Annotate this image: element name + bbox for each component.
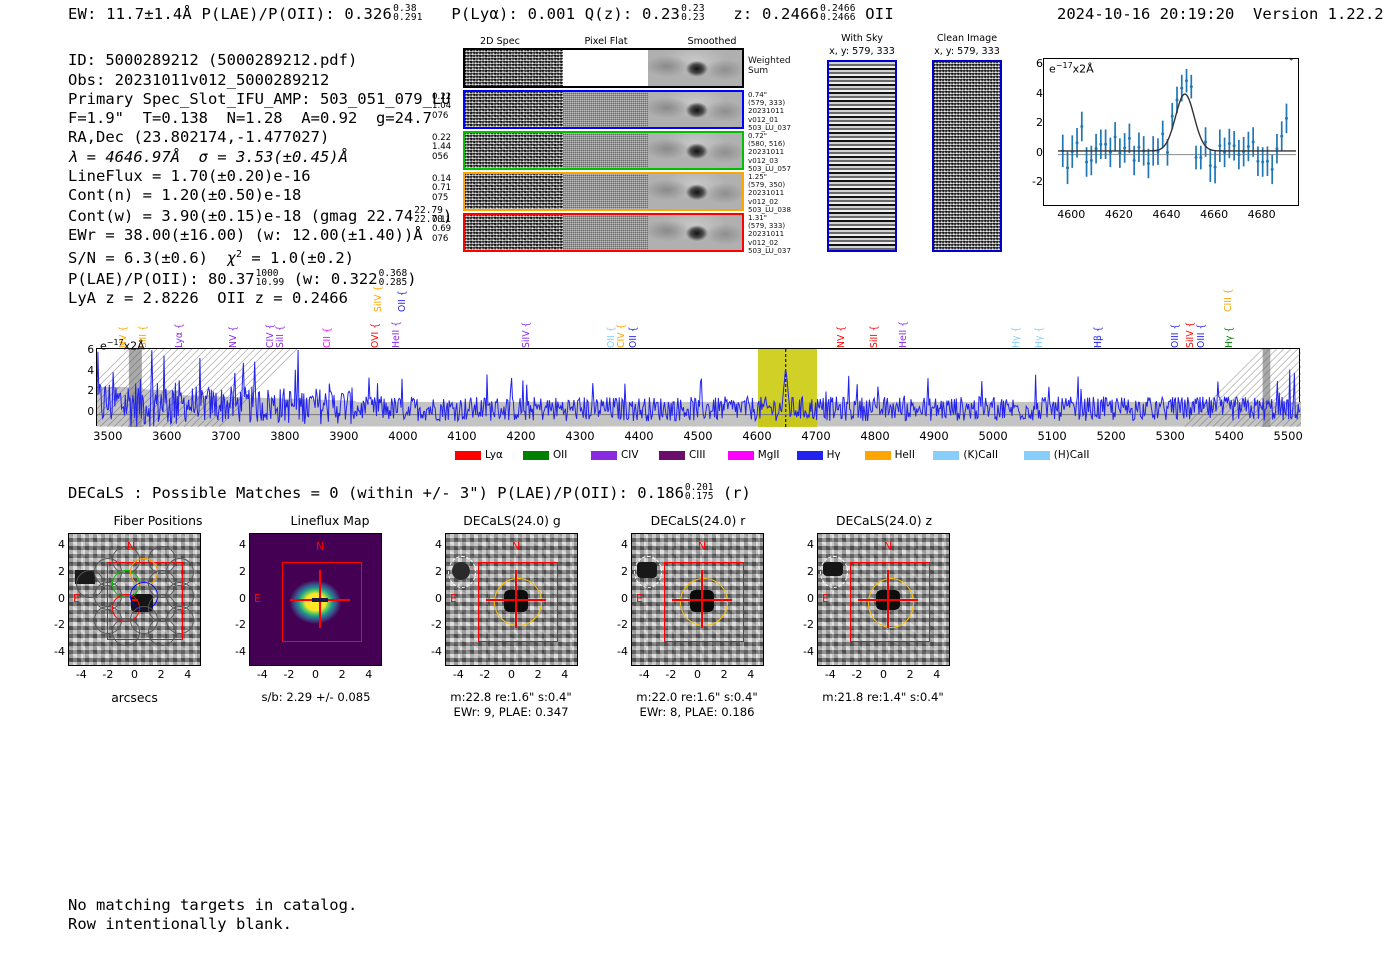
axis-tick-label: 0 — [498, 668, 526, 681]
summary-header: EW: 11.7±1.4Å P(LAE)/P(OII): 0.3260.380.… — [68, 4, 894, 23]
line-marker-siiv: SiIV { — [521, 310, 532, 348]
axis-tick-label: -2 — [425, 618, 442, 631]
line-marker-siii: SiII { — [869, 310, 880, 348]
decals-g-aperture — [494, 578, 542, 626]
line-marker-civ: CIV { — [616, 310, 627, 348]
axis-tick-label: 2 — [710, 668, 738, 681]
line-marker-siii: SiII { — [275, 310, 286, 348]
footer-line-1: No matching targets in catalog. — [68, 896, 357, 914]
line-marker-oiii: OIII { — [1196, 310, 1207, 348]
legend-swatch-ciii — [659, 451, 685, 460]
axis-tick-label: 4640 — [1150, 208, 1182, 221]
line-marker-oiii: OIII { — [1170, 310, 1181, 348]
axis-tick-label: 4660 — [1198, 208, 1230, 221]
info-lambda-sigma: λ = 4646.97Å σ = 3.53(±0.45)Å — [68, 148, 348, 166]
axis-tick-label: 4800 — [853, 429, 897, 443]
axis-tick-label: 4500 — [676, 429, 720, 443]
axis-tick-label: -4 — [425, 645, 442, 658]
axis-tick-label: -2 — [611, 618, 628, 631]
line-marker-hγ: Hγ { — [1034, 310, 1045, 348]
row4-smoothed-image — [648, 215, 742, 250]
legend-label-hcaii: (H)CaII — [1054, 449, 1090, 461]
plya-qz: P(Lyα): 0.001 Q(z): 0.23 — [451, 5, 680, 23]
info-sn: S/N = 6.3(±0.6) — [68, 249, 208, 267]
axis-tick-label: 0 — [80, 406, 94, 418]
axis-tick-label: 2 — [1027, 116, 1043, 129]
info-radec: RA,Dec (23.802174,-1.477027) — [68, 128, 329, 146]
decals-g-north-label: N — [512, 540, 520, 553]
decals-r-image: N E — [631, 533, 764, 666]
axis-tick-label: 6 — [80, 344, 94, 356]
chi2-value: = 1.0(±0.2) — [242, 249, 354, 267]
object-info-block: ID: 5000289212 (5000289212.pdf) Obs: 202… — [68, 32, 452, 308]
plae-w: (w: 0.322 — [294, 269, 378, 287]
axis-tick-label: -2 — [843, 668, 871, 681]
weighted-pixelflat-image — [563, 50, 648, 86]
decals-header-text: DECaLS : Possible Matches = 0 (within +/… — [68, 484, 684, 502]
decals-z-image: N E — [817, 533, 950, 666]
axis-tick-label: 6 — [1027, 57, 1043, 70]
legend-label-ciii: CIII — [689, 449, 705, 461]
fiber-row-2-meta: 0.72" (580, 516) 20231011 v012_03 503_LU… — [748, 132, 791, 173]
plae-bounds2: 100010.99 — [256, 269, 285, 287]
axis-tick-label: 4 — [80, 365, 94, 377]
axis-tick-label: 4 — [797, 538, 814, 551]
axis-tick-label: 2 — [229, 565, 246, 578]
fiber-positions-xlabel: arcsecs — [68, 690, 201, 705]
line-marker-hβ: Hβ { — [1093, 310, 1104, 348]
line-marker-hγ: Hγ { — [1224, 310, 1235, 348]
axis-tick-label: 0 — [302, 668, 330, 681]
lineflux-east-label: E — [254, 592, 261, 605]
legend-label-civ: CIV — [621, 449, 638, 461]
legend-swatch-lyα — [455, 451, 481, 460]
line-marker-oii: OII { — [628, 310, 639, 348]
footer-note: No matching targets in catalog. Row inte… — [68, 876, 357, 935]
panel-title-fiber-positions: Fiber Positions — [68, 513, 248, 528]
info-seeing: F=1.9" T=0.138 N=1.28 A=0.92 g=24.7 — [68, 109, 432, 127]
axis-tick-label: 2 — [425, 565, 442, 578]
line-marker-cii: CII { — [322, 310, 333, 348]
weighted-smoothed-image — [648, 50, 742, 86]
line-marker-heii: HeII { — [898, 310, 909, 348]
fiber-row-1 — [463, 90, 744, 129]
axis-tick-label: 4 — [229, 538, 246, 551]
emission-line-plot — [1043, 58, 1299, 206]
line-marker-ciii: CIII { — [1223, 272, 1234, 312]
fiber-row-1-values: 0.22 1.04 076 — [432, 93, 451, 121]
line-marker-oii: OII { — [397, 272, 408, 312]
row4-pixelflat-image — [563, 215, 648, 250]
decals-z-east-label: E — [822, 592, 829, 605]
axis-tick-label: 2 — [328, 668, 356, 681]
axis-tick-label: -4 — [229, 645, 246, 658]
decals-g-east-label: E — [450, 592, 457, 605]
axis-tick-label: 4680 — [1246, 208, 1278, 221]
panel-title-pixelflat: Pixel Flat — [568, 36, 644, 47]
decals-r-aperture — [680, 578, 728, 626]
fiber-row-4 — [463, 213, 744, 252]
decals-g-caption-2: EWr: 9, PLAE: 0.347 — [430, 705, 592, 719]
axis-tick-label: 0 — [797, 592, 814, 605]
axis-tick-label: 4400 — [617, 429, 661, 443]
axis-tick-label: -2 — [229, 618, 246, 631]
z-bounds: 0.24660.2466 — [820, 4, 856, 22]
line-marker-siiv: SiIV { — [373, 272, 384, 312]
axis-tick-label: -2 — [275, 668, 303, 681]
axis-tick-label: 3900 — [322, 429, 366, 443]
fiber-row-3-values: 0.14 0.71 075 — [432, 175, 451, 203]
axis-tick-label: 4200 — [499, 429, 543, 443]
legend-label-heii: HeII — [895, 449, 915, 461]
line-marker-oii: OII { — [606, 310, 617, 348]
axis-tick-label: 5000 — [971, 429, 1015, 443]
axis-tick-label: -4 — [630, 668, 658, 681]
decals-g-image: N E — [445, 533, 578, 666]
axis-tick-label: 5200 — [1089, 429, 1133, 443]
axis-tick-label: 3600 — [145, 429, 189, 443]
decals-r-north-label: N — [698, 540, 706, 553]
axis-tick-label: 2 — [896, 668, 924, 681]
qz-bounds: 0.230.23 — [681, 4, 705, 22]
axis-tick-label: -2 — [94, 668, 122, 681]
footer-line-2: Row intentionally blank. — [68, 915, 292, 933]
with-sky-title: With Sky — [812, 33, 912, 44]
panel-title-lineflux-map: Lineflux Map — [245, 513, 415, 528]
axis-tick-label: 0 — [870, 668, 898, 681]
timestamp: 2024-10-16 20:19:20 — [1057, 5, 1234, 23]
line-marker-siiv: SiIV { — [1185, 310, 1196, 348]
axis-tick-label: 4 — [923, 668, 951, 681]
fiber-row-3 — [463, 172, 744, 211]
weighted-sum-row — [463, 48, 744, 88]
axis-tick-label: -2 — [48, 618, 65, 631]
line-marker-nv: NV { — [228, 310, 239, 348]
axis-tick-label: -4 — [67, 668, 95, 681]
legend-swatch-civ — [591, 451, 617, 460]
axis-tick-label: 2 — [48, 565, 65, 578]
axis-tick-label: 4 — [737, 668, 765, 681]
fiber-row-3-meta: 1.25" (579, 350) 20231011 v012_02 503_LU… — [748, 173, 791, 214]
axis-tick-label: 2 — [611, 565, 628, 578]
panel-title-decals-z: DECaLS(24.0) z — [794, 513, 974, 528]
axis-tick-label: 2 — [80, 385, 94, 397]
legend-swatch-oii — [523, 451, 549, 460]
info-obs: Obs: 20231011v012_5000289212 — [68, 71, 329, 89]
lineflux-caption: s/b: 2.29 +/- 0.085 — [240, 690, 392, 704]
line-marker-hγ: Hγ { — [1011, 310, 1022, 348]
axis-tick-label: 0 — [229, 592, 246, 605]
legend-swatch-mgii — [728, 451, 754, 460]
axis-tick-label: 0 — [1027, 146, 1043, 159]
fiber-positions-image: N E — [68, 533, 201, 666]
decals-header: DECaLS : Possible Matches = 0 (within +/… — [68, 483, 751, 502]
decals-r-caption-2: EWr: 8, PLAE: 0.186 — [616, 705, 778, 719]
axis-tick-label: -4 — [816, 668, 844, 681]
decals-z-north-label: N — [884, 540, 892, 553]
axis-tick-label: 4 — [551, 668, 579, 681]
axis-tick-label: 2 — [797, 565, 814, 578]
decals-z-aperture — [868, 578, 914, 628]
axis-tick-label: 4600 — [735, 429, 779, 443]
axis-tick-label: 4600 — [1055, 208, 1087, 221]
fiber-row-4-values: 0.11 0.69 076 — [432, 216, 451, 244]
legend-swatch-hcaii — [1024, 451, 1050, 460]
axis-tick-label: 4 — [48, 538, 65, 551]
axis-tick-label: 0 — [425, 592, 442, 605]
axis-tick-label: 2 — [147, 668, 175, 681]
axis-tick-label: 4 — [174, 668, 202, 681]
weighted-sum-label: Weighted Sum — [748, 56, 791, 76]
lineflux-map-image: N E — [249, 533, 382, 666]
info-cont-n: Cont(n) = 1.20(±0.50)e-18 — [68, 186, 301, 204]
decals-r-east-label: E — [636, 592, 643, 605]
axis-tick-label: 5100 — [1030, 429, 1074, 443]
axis-tick-label: 4 — [611, 538, 628, 551]
axis-tick-label: 0 — [684, 668, 712, 681]
axis-tick-label: 0 — [121, 668, 149, 681]
legend-swatch-hγ — [797, 451, 823, 460]
axis-tick-label: -4 — [444, 668, 472, 681]
legend-label-mgii: MgII — [758, 449, 780, 461]
full-spectrum-plot — [96, 348, 1300, 426]
panel-title-decals-g: DECaLS(24.0) g — [422, 513, 602, 528]
axis-tick-label: -2 — [797, 618, 814, 631]
axis-tick-label: 3500 — [86, 429, 130, 443]
axis-tick-label: 0 — [611, 592, 628, 605]
line-marker-ovi: OVI { — [370, 310, 381, 348]
info-ewr: EWr = 38.00(±16.00) (w: 12.00(±1.40))Å — [68, 226, 423, 244]
row3-2dspec-image — [465, 174, 563, 209]
row2-2dspec-image — [465, 133, 563, 168]
axis-tick-label: -2 — [657, 668, 685, 681]
info-plae: P(LAE)/P(OII): 80.37 — [68, 269, 255, 287]
axis-tick-label: 4300 — [558, 429, 602, 443]
axis-tick-label: 4 — [355, 668, 383, 681]
axis-tick-label: -4 — [611, 645, 628, 658]
row1-smoothed-image — [648, 92, 742, 127]
info-lineflux: LineFlux = 1.70(±0.20)e-16 — [68, 167, 311, 185]
line-marker-heii: HeII { — [391, 310, 402, 348]
clean-image-coords: x, y: 579, 333 — [915, 46, 1019, 57]
line-marker-nv: NV { — [836, 310, 847, 348]
spectrum-units-label: e−17x2Å — [100, 338, 145, 353]
version: Version 1.22.2 — [1253, 5, 1384, 23]
with-sky-image — [827, 60, 897, 252]
axis-tick-label: -2 — [471, 668, 499, 681]
legend-label-hγ: Hγ — [827, 449, 841, 461]
info-primary-spec: Primary Spec_Slot_IFU_AMP: 503_051_079_L… — [68, 90, 451, 108]
info-cont-w: Cont(w) = 3.90(±0.15)e-18 (gmag 22.74 — [68, 206, 413, 224]
fiber-east-label: E — [73, 592, 80, 605]
decals-r-caption-1: m:22.0 re:1.6" s:0.4" — [616, 690, 778, 704]
axis-tick-label: 5500 — [1266, 429, 1310, 443]
axis-tick-label: 4620 — [1103, 208, 1135, 221]
plae-ratio-bounds: 0.380.291 — [393, 4, 423, 22]
lineflux-red-box — [282, 562, 362, 642]
legend-label-oii: OII — [553, 449, 567, 461]
row3-pixelflat-image — [563, 174, 648, 209]
summary-prefix: EW: 11.7±1.4Å P(LAE)/P(OII): 0.326 — [68, 5, 392, 23]
row1-pixelflat-image — [563, 92, 648, 127]
axis-tick-label: -4 — [797, 645, 814, 658]
timestamp-version: 2024-10-16 20:19:20 Version 1.22.2 — [1057, 5, 1384, 23]
row3-smoothed-image — [648, 174, 742, 209]
axis-tick-label: 4 — [1027, 87, 1043, 100]
fiber-row-2-values: 0.22 1.44 056 — [432, 134, 451, 162]
row2-smoothed-image — [648, 133, 742, 168]
axis-tick-label: 4100 — [440, 429, 484, 443]
line-marker-lyα: Lyα { — [174, 310, 185, 348]
axis-tick-label: -4 — [48, 645, 65, 658]
panel-title-decals-r: DECaLS(24.0) r — [608, 513, 788, 528]
clean-image-title: Clean Image — [915, 33, 1019, 44]
lineflux-north-label: N — [316, 540, 324, 553]
axis-tick-label: 4900 — [912, 429, 956, 443]
axis-tick-label: -2 — [1027, 175, 1043, 188]
zoomplot-units-label: e−17x2Å — [1049, 61, 1094, 76]
axis-tick-label: 4000 — [381, 429, 425, 443]
row2-pixelflat-image — [563, 133, 648, 168]
row4-2dspec-image — [465, 215, 563, 250]
panel-title-2dspec: 2D Spec — [462, 36, 538, 47]
fiber-row-1-meta: 0.74" (579, 333) 20231011 v012_01 503_LU… — [748, 91, 791, 132]
axis-tick-label: 4700 — [794, 429, 838, 443]
decals-z-caption-1: m:21.8 re:1.4" s:0.4" — [802, 690, 964, 704]
axis-tick-label: -4 — [248, 668, 276, 681]
axis-tick-label: 5300 — [1148, 429, 1192, 443]
axis-tick-label: 0 — [48, 592, 65, 605]
z-class: OII — [865, 5, 894, 23]
row1-2dspec-image — [465, 92, 563, 127]
legend-label-kcaii: (K)CaII — [963, 449, 998, 461]
info-redshifts: LyA z = 2.8226 OII z = 0.2466 — [68, 289, 348, 307]
decals-plae-bounds: 0.2010.175 — [685, 483, 714, 501]
chi2-symbol: χ — [227, 249, 236, 267]
weighted-2dspec-image — [465, 50, 563, 86]
panel-title-smoothed: Smoothed — [672, 36, 752, 47]
fiber-north-label: N — [127, 540, 135, 553]
legend-label-lyα: Lyα — [485, 449, 503, 461]
with-sky-coords: x, y: 579, 333 — [812, 46, 912, 57]
axis-tick-label: 5400 — [1207, 429, 1251, 443]
info-id: ID: 5000289212 (5000289212.pdf) — [68, 51, 357, 69]
clean-image — [932, 60, 1002, 252]
fiber-row-2 — [463, 131, 744, 170]
legend-swatch-heii — [865, 451, 891, 460]
axis-tick-label: 3700 — [204, 429, 248, 443]
fiber-row-4-meta: 1.31" (579, 333) 20231011 v012_02 503_LU… — [748, 214, 791, 255]
z-label: z: 0.2466 — [733, 5, 819, 23]
axis-tick-label: 2 — [524, 668, 552, 681]
axis-tick-label: 4 — [425, 538, 442, 551]
legend-swatch-kcaii — [933, 451, 959, 460]
decals-header-tail: (r) — [723, 484, 751, 502]
decals-g-caption-1: m:22.8 re:1.6" s:0.4" — [430, 690, 592, 704]
axis-tick-label: 3800 — [263, 429, 307, 443]
plae-w-tail: ) — [407, 269, 416, 287]
